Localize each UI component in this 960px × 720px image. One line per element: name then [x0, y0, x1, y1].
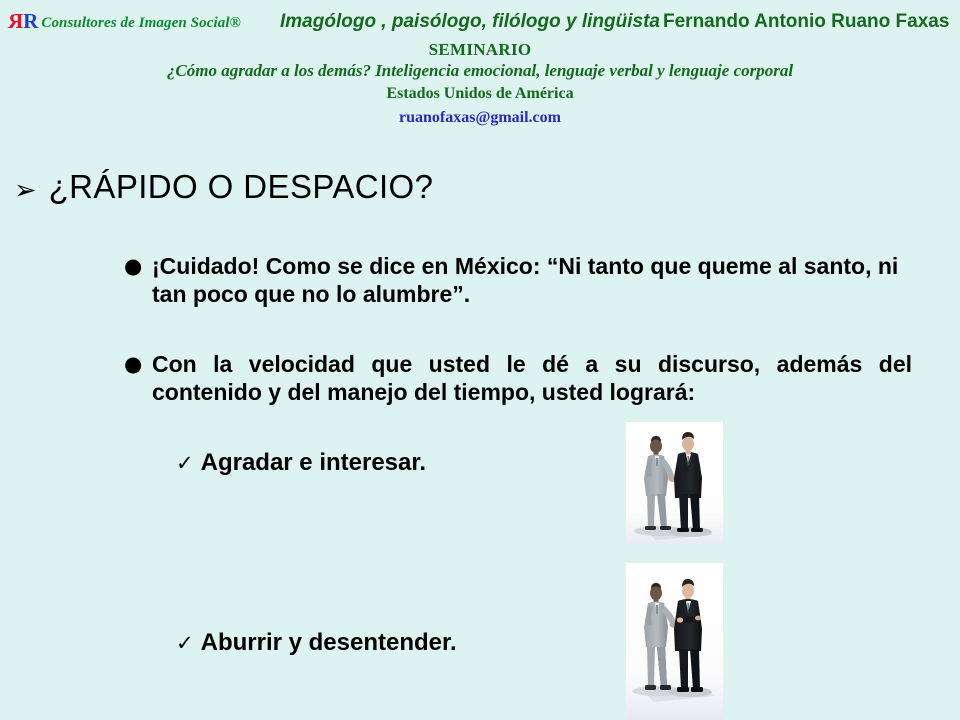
logo-r-icon: R: [23, 9, 38, 33]
list-item-text: Con la velocidad que usted le dé a su di…: [152, 350, 912, 406]
seminar-label: SEMINARIO: [0, 41, 960, 58]
disc-bullet-icon: ●: [124, 252, 152, 280]
list-item-text: Agradar e interesar.: [201, 451, 426, 475]
list-item: ● ¡Cuidado! Como se dice en México: “Ni …: [124, 252, 924, 308]
arrow-bullet-icon: ➢: [14, 177, 37, 204]
check-icon: ✓: [176, 633, 194, 654]
seminar-subtitle: ¿Cómo agradar a los demás? Inteligencia …: [0, 62, 960, 79]
disc-bullet-icon: ●: [124, 350, 152, 378]
list-item: ✓ Aburrir y desentender.: [176, 631, 457, 655]
page-title: ➢ ¿RÁPIDO O DESPACIO?: [14, 168, 433, 206]
list-item: ✓ Agradar e interesar.: [176, 451, 426, 475]
list-item-text: ¡Cuidado! Como se dice en México: “Ni ta…: [152, 252, 922, 308]
slide-canvas: RRConsultores de Imagen Social® Imagólog…: [0, 0, 960, 720]
header-top-row: RRConsultores de Imagen Social® Imagólog…: [0, 10, 960, 36]
company-logo: RRConsultores de Imagen Social®: [8, 11, 241, 32]
logo-text: Consultores de Imagen Social®: [41, 15, 241, 31]
check-icon: ✓: [176, 453, 194, 474]
seminar-country: Estados Unidos de América: [0, 86, 960, 102]
presenter-line: Imagólogo , paisólogo, filólogo y lingüi…: [280, 12, 956, 31]
presenter-role: Imagólogo , paisólogo, filólogo y lingüi…: [280, 11, 660, 32]
logo-reversed-r-icon: R: [8, 11, 23, 32]
photo-businessmen-bored: [626, 563, 723, 720]
presenter-name: Fernando Antonio Ruano Faxas: [663, 11, 949, 32]
list-item-text: Aburrir y desentender.: [201, 631, 457, 655]
photo-businessmen-engaged-graphic: [626, 422, 723, 545]
slide-header: RRConsultores de Imagen Social® Imagólog…: [0, 0, 960, 140]
contact-email[interactable]: ruanofaxas@gmail.com: [0, 110, 960, 126]
photo-businessmen-bored-graphic: [626, 563, 723, 720]
photo-businessmen-engaged: [626, 422, 723, 545]
list-item: ● Con la velocidad que usted le dé a su …: [124, 350, 924, 406]
page-title-text: ¿RÁPIDO O DESPACIO?: [49, 168, 434, 206]
